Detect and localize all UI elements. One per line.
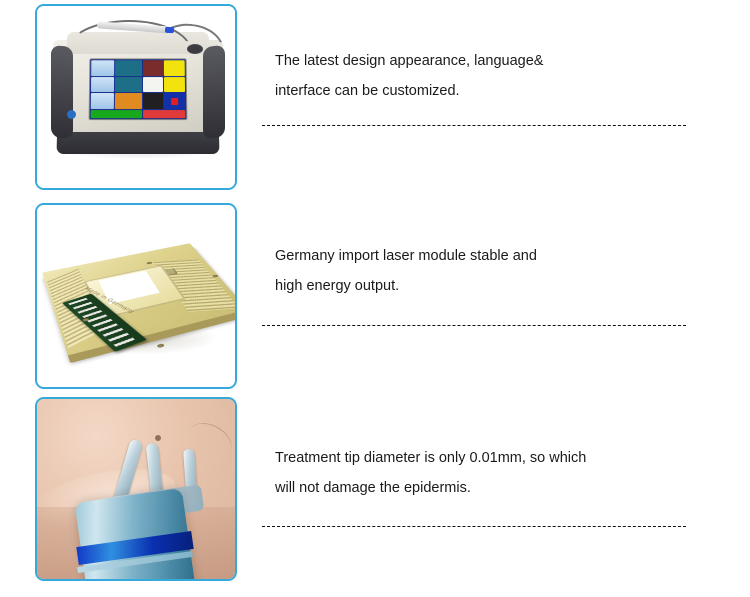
treatment-contact-point [155, 435, 161, 441]
feature-text-3: Treatment tip diameter is only 0.01mm, s… [275, 443, 695, 503]
image-panel-treatment-tip [35, 397, 237, 581]
screen-tile [115, 77, 142, 93]
screen-tile [115, 93, 142, 109]
feature-line: interface can be customized. [275, 76, 695, 106]
screen-tile [115, 60, 142, 75]
image-panel-laser-module: Made in Germany [35, 203, 237, 389]
screen-tile-stop [164, 93, 185, 109]
feature-divider-1 [262, 125, 686, 126]
feature-line: The latest design appearance, language& [275, 46, 695, 76]
image-panel-laser-machine [35, 4, 237, 190]
module-screw [146, 262, 152, 265]
screen-bar-ready [91, 110, 142, 118]
feature-row-3: Treatment tip diameter is only 0.01mm, s… [0, 395, 750, 585]
feature-divider-2 [262, 325, 686, 326]
handpiece-wand-tip [165, 27, 174, 34]
product-feature-page: The latest design appearance, language& … [0, 0, 750, 597]
treatment-tip-photo [37, 399, 235, 579]
module-screw [212, 274, 219, 277]
screen-bar-reset [143, 110, 186, 118]
screen-tile [164, 77, 185, 93]
machine-logo [67, 110, 76, 119]
feature-line: Treatment tip diameter is only 0.01mm, s… [275, 443, 695, 473]
machine-handle-right [203, 45, 225, 139]
feature-row-2: Made in Germany Germany import laser mod… [0, 199, 750, 395]
feature-text-2: Germany import laser module stable and h… [275, 241, 695, 301]
feature-line: will not damage the epidermis. [275, 473, 695, 503]
feature-row-1: The latest design appearance, language& … [0, 0, 750, 197]
feature-line: Germany import laser module stable and [275, 241, 695, 271]
feature-line: high energy output. [275, 271, 695, 301]
screen-tile [164, 60, 185, 75]
laser-module-photo: Made in Germany [37, 205, 235, 387]
feature-text-1: The latest design appearance, language& … [275, 46, 695, 106]
screen-tile [143, 77, 164, 93]
screen-tile [143, 60, 164, 75]
machine-handle-left [51, 45, 73, 139]
machine-touchscreen [89, 58, 188, 120]
screen-tile [143, 93, 164, 109]
feature-divider-3 [262, 526, 686, 527]
laser-machine-photo [37, 6, 235, 188]
screen-tile [91, 93, 114, 109]
screen-tile [91, 77, 114, 93]
screen-tile [91, 60, 114, 75]
